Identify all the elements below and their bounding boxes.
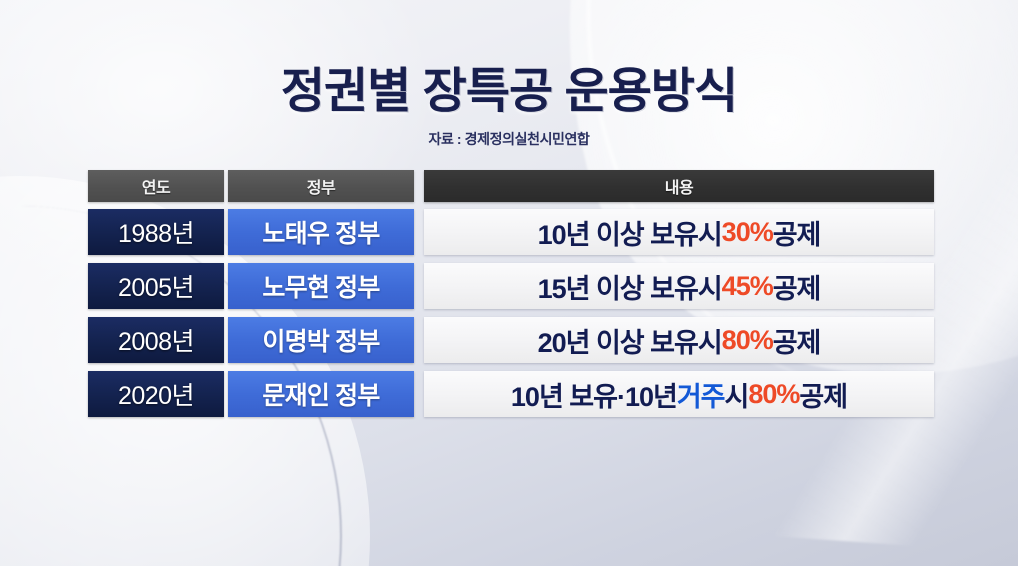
cell-detail: 10년 보유·10년 거주 시 80% 공제 — [424, 371, 934, 417]
cell-year: 1988년 — [88, 209, 224, 255]
source-credit: 자료 : 경제정의실천시민연합 — [0, 118, 1018, 149]
detail-text: 20년 이상 보유시 — [538, 321, 722, 360]
detail-emphasis-red: 80% — [748, 379, 799, 410]
cell-detail: 10년 이상 보유시 30% 공제 — [424, 209, 934, 255]
detail-text: 공제 — [773, 267, 821, 306]
table-header-row: 연도 정부 내용 — [88, 170, 934, 202]
detail-text: 10년 이상 보유시 — [538, 213, 722, 252]
detail-text: 10년 보유·10년 — [511, 375, 677, 414]
cell-year: 2020년 — [88, 371, 224, 417]
column-header-government: 정부 — [228, 170, 414, 202]
detail-text: 공제 — [799, 375, 847, 414]
cell-government: 노무현 정부 — [228, 263, 414, 309]
cell-detail: 20년 이상 보유시 80% 공제 — [424, 317, 934, 363]
cell-government: 노태우 정부 — [228, 209, 414, 255]
table-row: 1988년노태우 정부10년 이상 보유시 30% 공제 — [88, 209, 934, 255]
cell-detail: 15년 이상 보유시 45% 공제 — [424, 263, 934, 309]
detail-emphasis-red: 45% — [722, 271, 773, 302]
column-header-year: 연도 — [88, 170, 224, 202]
cell-government: 문재인 정부 — [228, 371, 414, 417]
table-row: 2008년이명박 정부20년 이상 보유시 80% 공제 — [88, 317, 934, 363]
detail-text: 공제 — [773, 213, 821, 252]
cell-year: 2008년 — [88, 317, 224, 363]
header: 정권별 장특공 운용방식 자료 : 경제정의실천시민연합 — [0, 0, 1018, 149]
detail-emphasis-red: 80% — [722, 325, 773, 356]
detail-text: 공제 — [773, 321, 821, 360]
column-header-detail: 내용 — [424, 170, 934, 202]
table-body: 1988년노태우 정부10년 이상 보유시 30% 공제2005년노무현 정부1… — [88, 209, 934, 417]
detail-text: 시 — [725, 375, 749, 414]
infographic-stage: 정권별 장특공 운용방식 자료 : 경제정의실천시민연합 연도 정부 내용 19… — [0, 0, 1018, 566]
policy-table: 연도 정부 내용 1988년노태우 정부10년 이상 보유시 30% 공제200… — [88, 170, 934, 425]
table-row: 2005년노무현 정부15년 이상 보유시 45% 공제 — [88, 263, 934, 309]
detail-emphasis-blue: 거주 — [677, 375, 725, 414]
detail-text: 15년 이상 보유시 — [538, 267, 722, 306]
cell-year: 2005년 — [88, 263, 224, 309]
cell-government: 이명박 정부 — [228, 317, 414, 363]
table-row: 2020년문재인 정부10년 보유·10년 거주 시 80% 공제 — [88, 371, 934, 417]
page-title: 정권별 장특공 운용방식 — [0, 0, 1018, 118]
detail-emphasis-red: 30% — [722, 217, 773, 248]
